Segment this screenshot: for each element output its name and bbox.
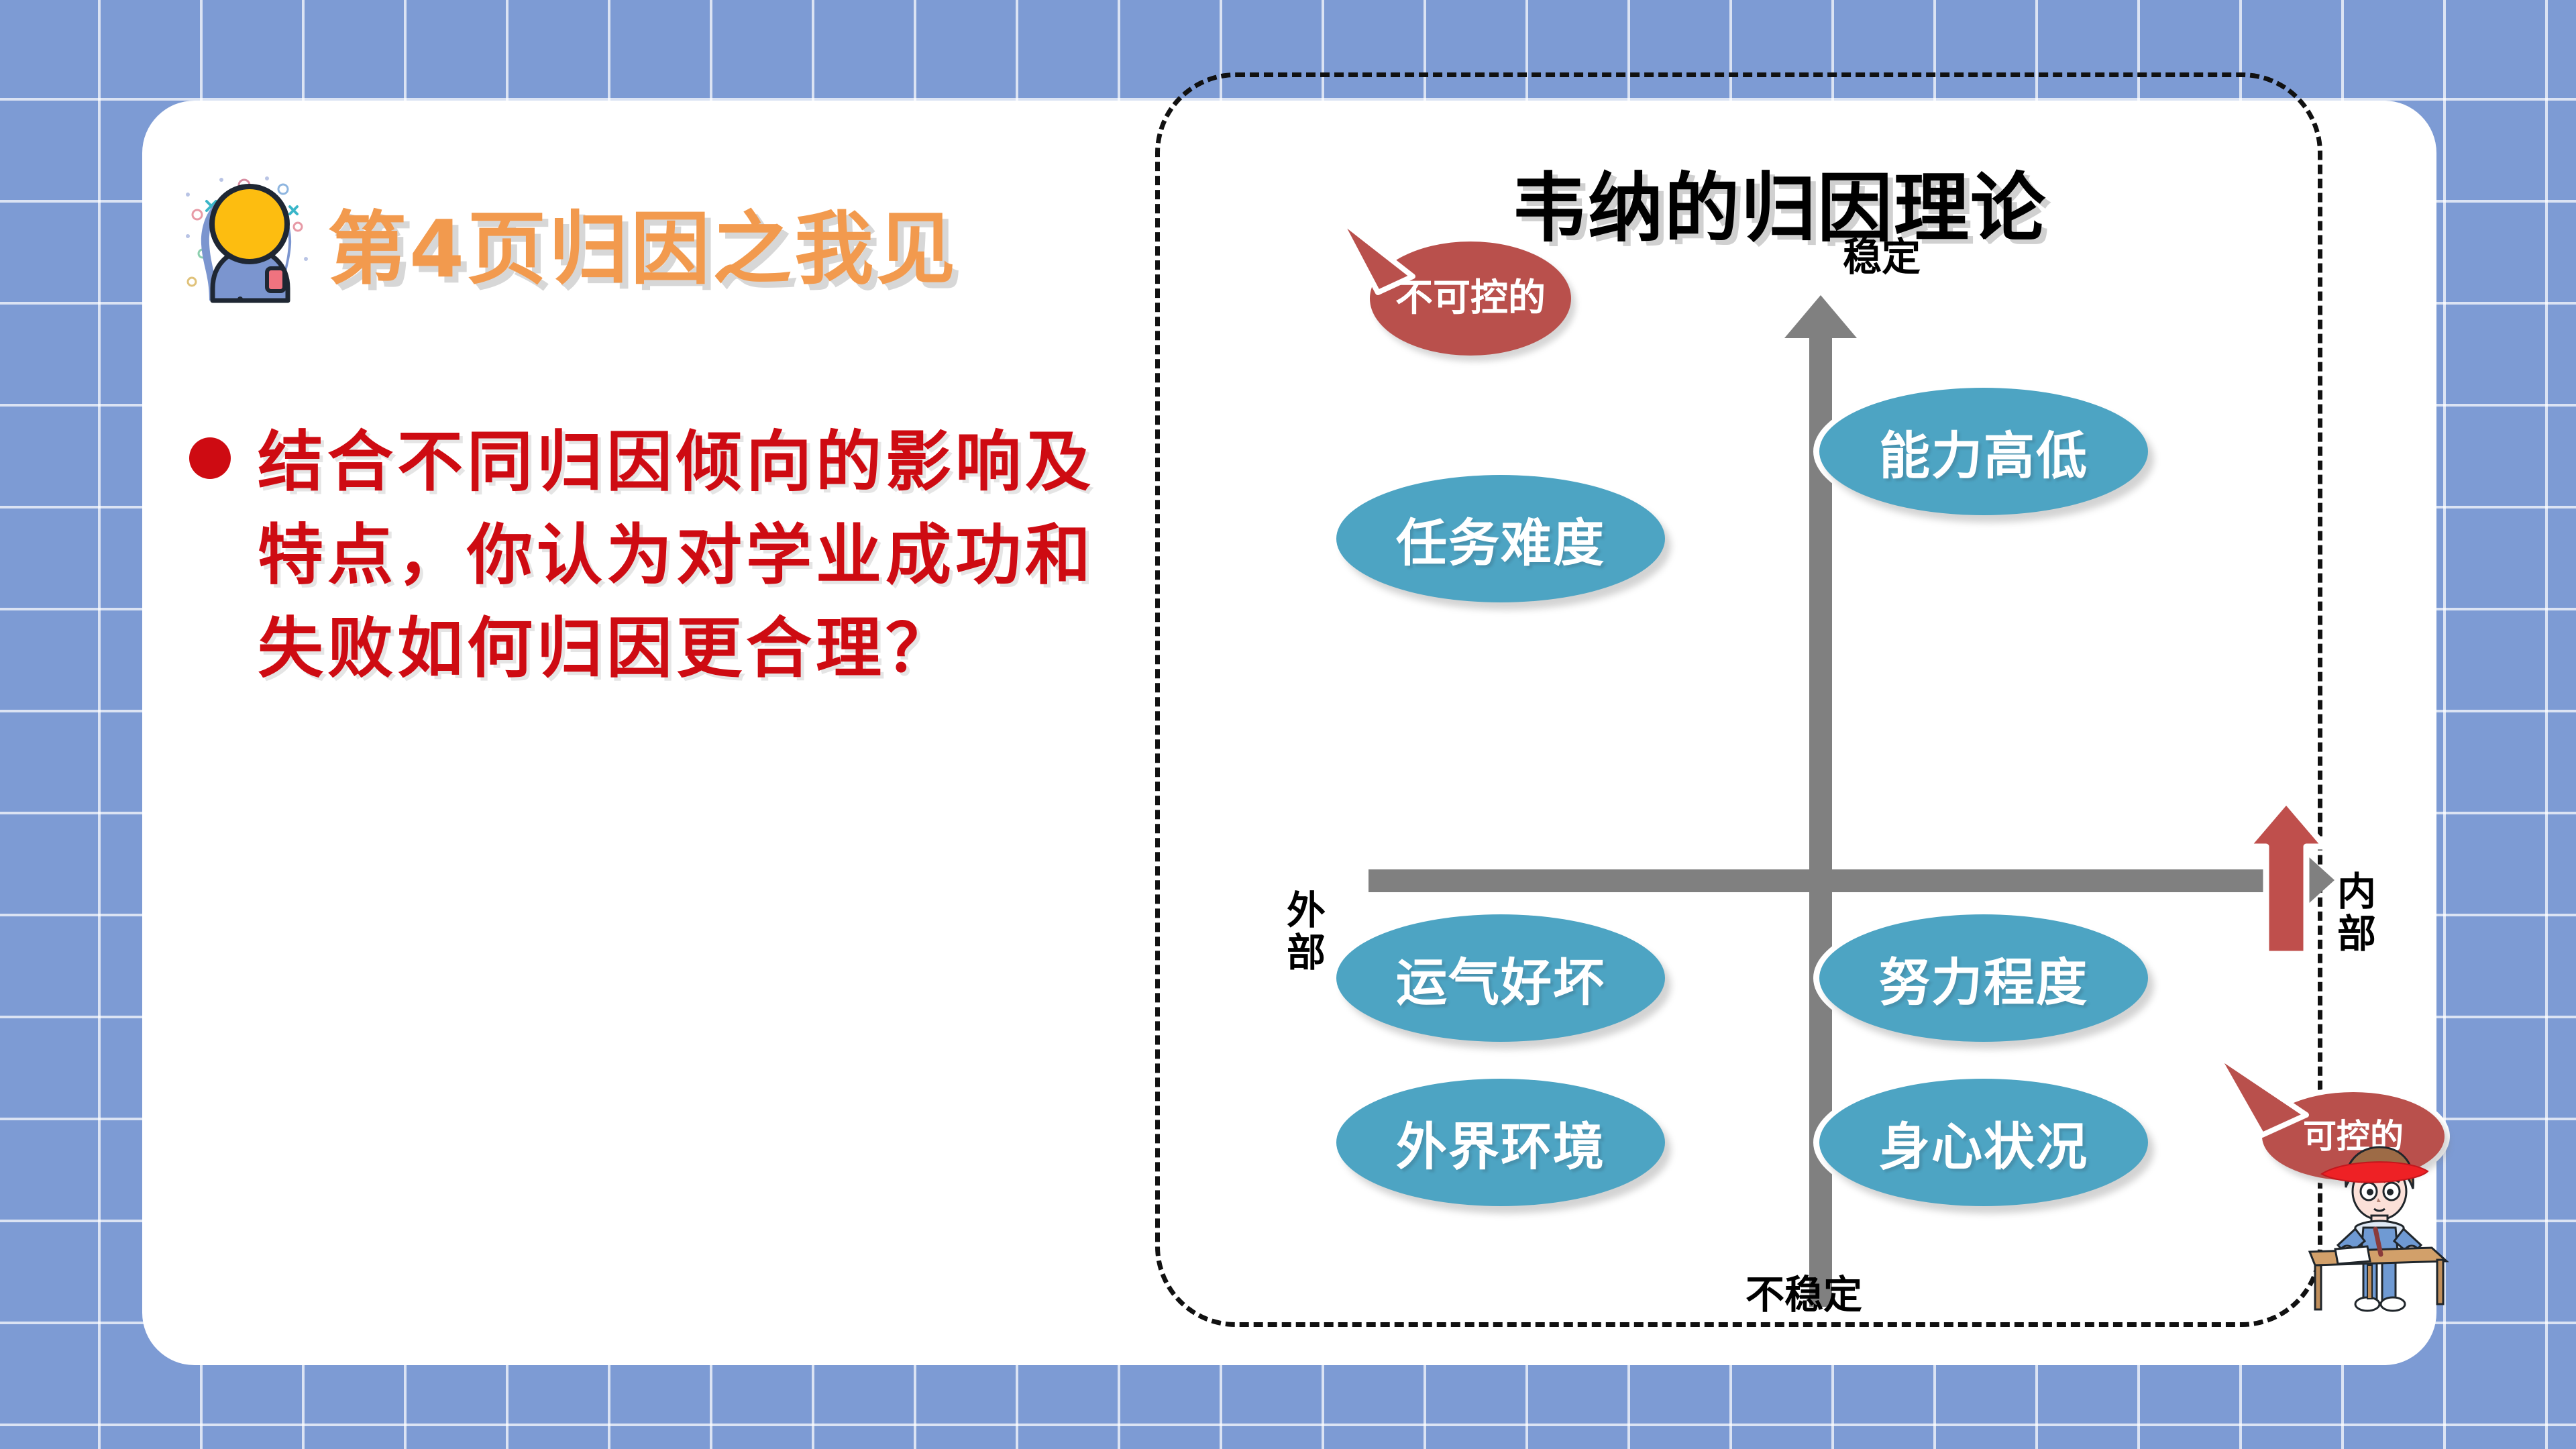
arrow-up-icon <box>1784 295 1857 338</box>
bubble-uncontrollable[interactable]: 不可控的 <box>1370 241 1571 356</box>
bubble-tail-icon <box>2212 1051 2313 1144</box>
node-luck[interactable]: 运气好坏 <box>1336 914 1665 1042</box>
node-ability-level[interactable]: 能力高低 <box>1819 388 2148 515</box>
node-physical-mental[interactable]: 身心状况 <box>1819 1079 2148 1206</box>
axis-label-stable: 稳定 <box>1843 225 1921 282</box>
slide-card: 第4页归因之我见 结合不同归因倾向的影响及特点，你认为对学业成功和失败如何归因更… <box>142 101 2436 1365</box>
axis-label-external: 外部 <box>1287 890 1327 973</box>
node-task-difficulty[interactable]: 任务难度 <box>1336 475 1665 602</box>
node-effort-level[interactable]: 努力程度 <box>1819 914 2148 1042</box>
axis-label-internal: 内部 <box>2337 871 2377 955</box>
axis-label-unstable: 不稳定 <box>1746 1263 1862 1320</box>
body-text: 结合不同归因倾向的影响及特点，你认为对学业成功和失败如何归因更合理？ <box>258 416 1123 696</box>
diagram-title: 韦纳的归因理论 <box>1142 148 2416 256</box>
node-environment[interactable]: 外界环境 <box>1336 1079 1665 1206</box>
attribution-theory-diagram: 韦纳的归因理论 稳定 不稳定 外部 内部 任务难度 能力高低 运气好坏 努力程度… <box>1142 72 2416 1360</box>
person-avatar-icon <box>182 174 310 309</box>
horizontal-axis <box>1368 869 2301 892</box>
student-writing-at-desk-icon <box>2306 1140 2452 1316</box>
red-arrow-up-icon <box>2242 797 2330 958</box>
left-content-column: 第4页归因之我见 结合不同归因倾向的影响及特点，你认为对学业成功和失败如何归因更… <box>142 101 1189 1365</box>
body-bullet-row: 结合不同归因倾向的影响及特点，你认为对学业成功和失败如何归因更合理？ <box>189 416 1148 696</box>
bullet-dot-icon <box>189 437 231 479</box>
page-title: 第4页归因之我见 <box>327 184 958 299</box>
bubble-tail-icon <box>1335 215 1422 309</box>
title-row: 第4页归因之我见 <box>182 174 958 309</box>
